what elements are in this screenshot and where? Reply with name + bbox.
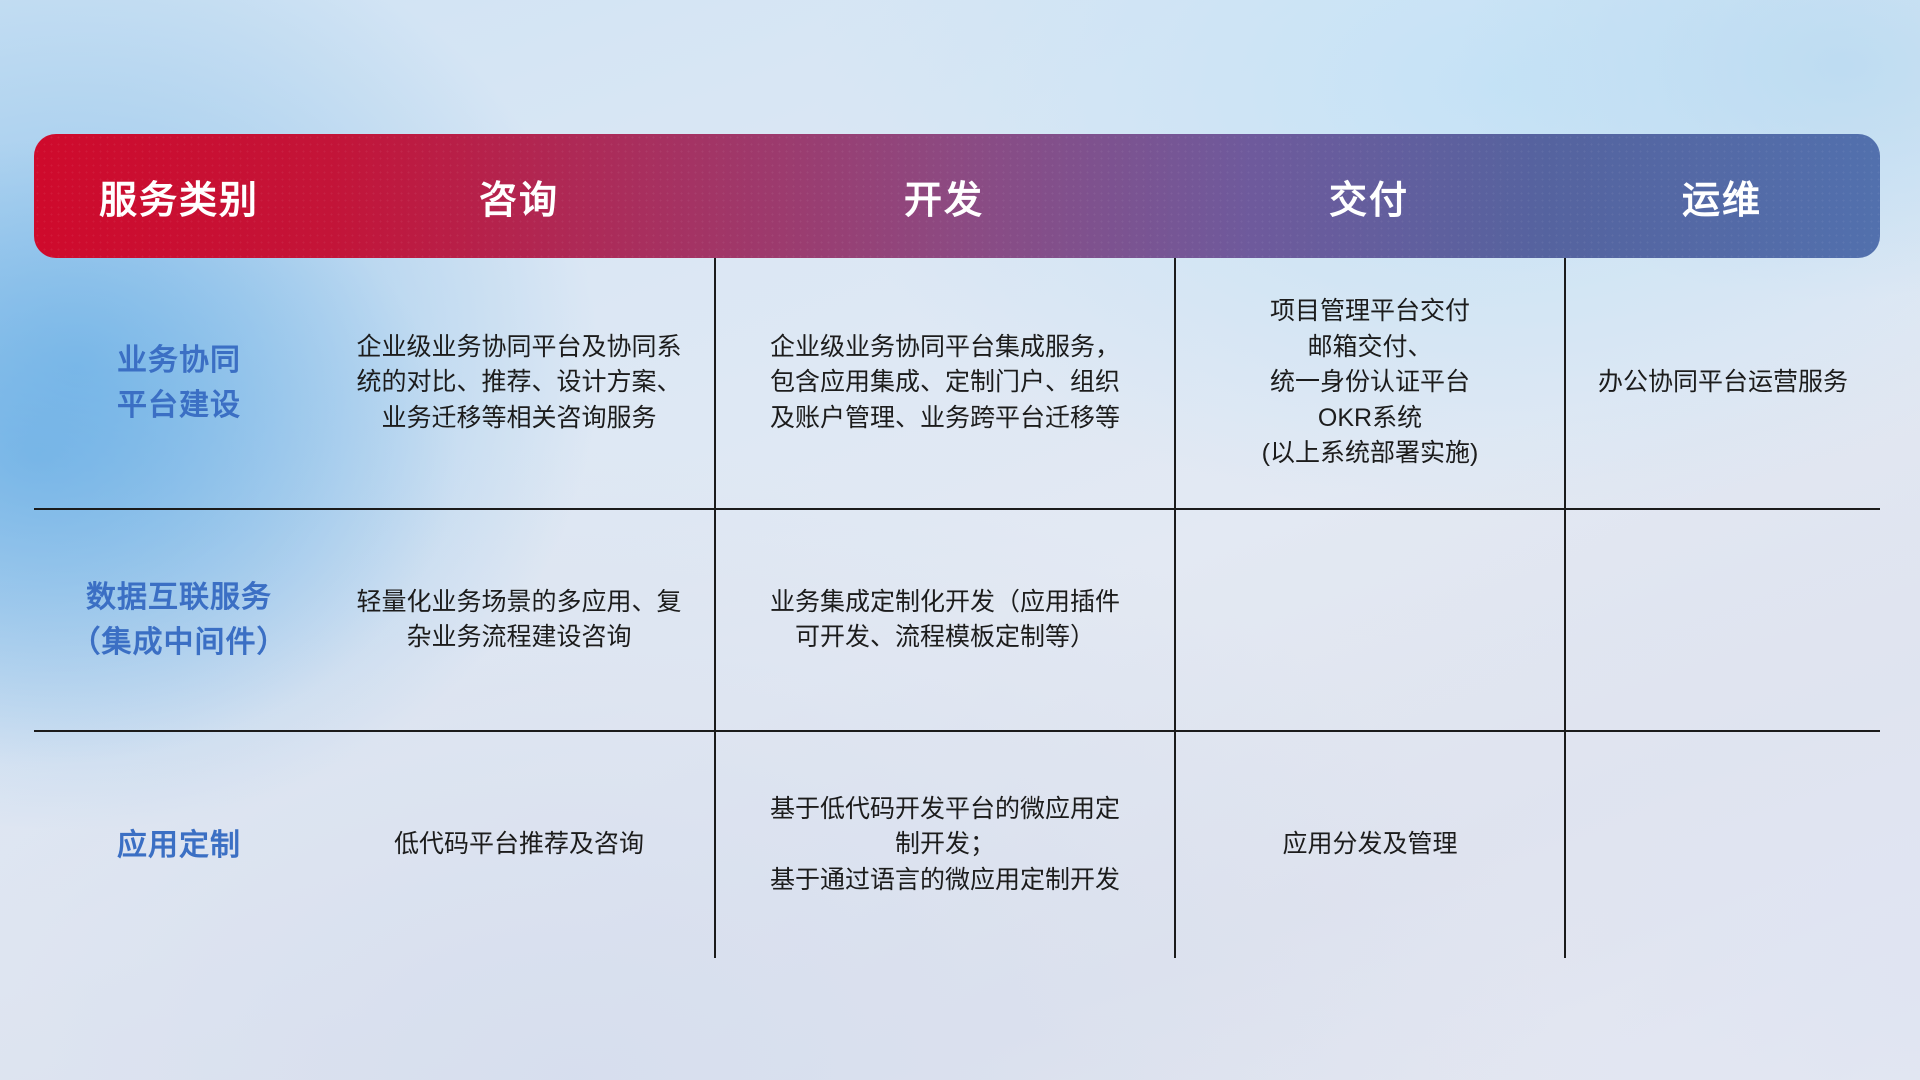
table-row: 数据互联服务 （集成中间件） 轻量化业务场景的多应用、复 杂业务流程建设咨询 业… bbox=[34, 508, 1880, 730]
cell-operations bbox=[1564, 732, 1880, 958]
column-header-development: 开发 bbox=[714, 134, 1174, 258]
row-category-label: 业务协同 平台建设 bbox=[34, 258, 324, 508]
cell-consulting: 低代码平台推荐及咨询 bbox=[324, 732, 714, 958]
table-body: 业务协同 平台建设 企业级业务协同平台及协同系 统的对比、推荐、设计方案、 业务… bbox=[34, 258, 1880, 958]
page-root: 服务类别 咨询 开发 交付 运维 业务协同 平台建设 企业级业务协同平台及协同系… bbox=[0, 0, 1920, 1080]
cell-development: 企业级业务协同平台集成服务， 包含应用集成、定制门户、组织 及账户管理、业务跨平… bbox=[714, 258, 1174, 508]
column-header-consulting: 咨询 bbox=[324, 134, 714, 258]
table-row: 应用定制 低代码平台推荐及咨询 基于低代码开发平台的微应用定 制开发； 基于通过… bbox=[34, 730, 1880, 958]
cell-development: 基于低代码开发平台的微应用定 制开发； 基于通过语言的微应用定制开发 bbox=[714, 732, 1174, 958]
table-header-row: 服务类别 咨询 开发 交付 运维 bbox=[34, 134, 1880, 258]
column-header-operations: 运维 bbox=[1564, 134, 1880, 258]
cell-delivery: 项目管理平台交付 邮箱交付、 统一身份认证平台 OKR系统 (以上系统部署实施) bbox=[1174, 258, 1564, 508]
column-header-category: 服务类别 bbox=[34, 134, 324, 258]
cell-operations bbox=[1564, 510, 1880, 730]
row-category-label: 数据互联服务 （集成中间件） bbox=[34, 510, 324, 730]
cell-consulting: 企业级业务协同平台及协同系 统的对比、推荐、设计方案、 业务迁移等相关咨询服务 bbox=[324, 258, 714, 508]
row-category-label: 应用定制 bbox=[34, 732, 324, 958]
column-header-delivery: 交付 bbox=[1174, 134, 1564, 258]
cell-delivery bbox=[1174, 510, 1564, 730]
table-row: 业务协同 平台建设 企业级业务协同平台及协同系 统的对比、推荐、设计方案、 业务… bbox=[34, 258, 1880, 508]
cell-operations: 办公协同平台运营服务 bbox=[1564, 258, 1880, 508]
cell-development: 业务集成定制化开发（应用插件 可开发、流程模板定制等） bbox=[714, 510, 1174, 730]
cell-consulting: 轻量化业务场景的多应用、复 杂业务流程建设咨询 bbox=[324, 510, 714, 730]
cell-delivery: 应用分发及管理 bbox=[1174, 732, 1564, 958]
service-matrix-table: 服务类别 咨询 开发 交付 运维 业务协同 平台建设 企业级业务协同平台及协同系… bbox=[34, 134, 1880, 954]
